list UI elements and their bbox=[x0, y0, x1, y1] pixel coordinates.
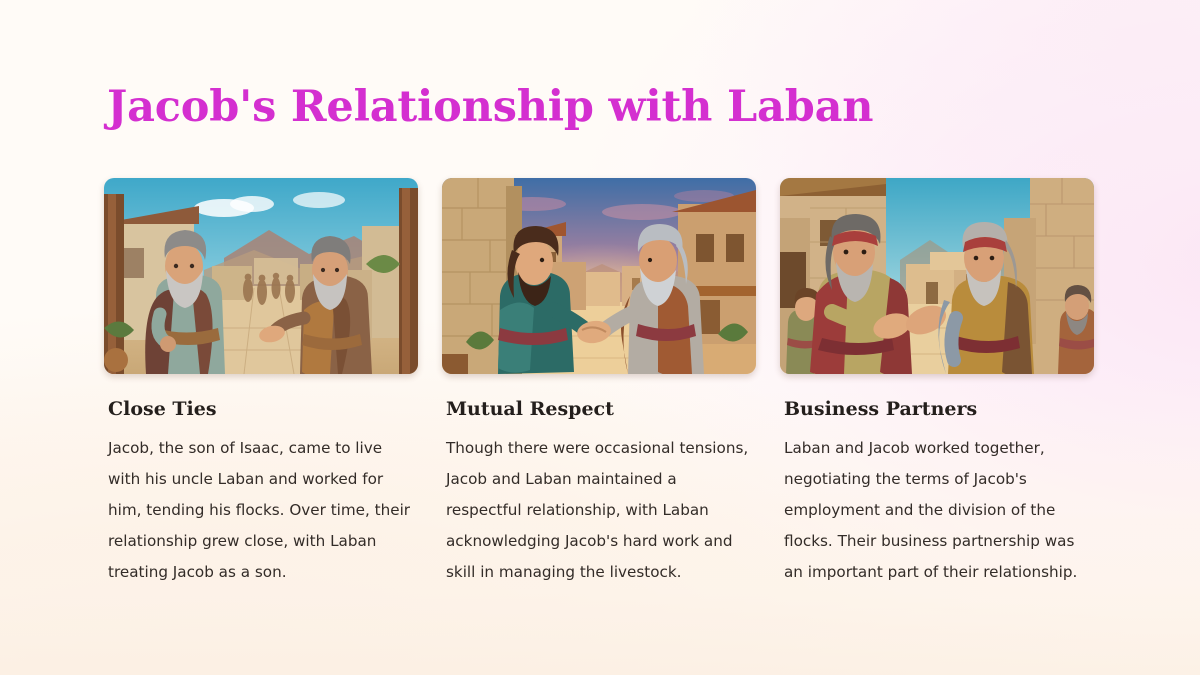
illustration-jacob-and-laban-handshake bbox=[442, 178, 756, 374]
street-scene-icon bbox=[104, 178, 418, 374]
card-heading: Mutual Respect bbox=[446, 398, 756, 421]
slide-root: Jacob's Relationship with Laban bbox=[0, 0, 1200, 675]
card-body-text: Though there were occasional tensions, J… bbox=[446, 433, 754, 588]
handshake-scene-icon bbox=[442, 178, 756, 374]
page-title: Jacob's Relationship with Laban bbox=[107, 84, 873, 131]
illustration-jacob-and-laban-meeting bbox=[104, 178, 418, 374]
card-heading: Business Partners bbox=[784, 398, 1094, 421]
card-business-partners: Business Partners Laban and Jacob worked… bbox=[780, 178, 1094, 588]
card-list: Close Ties Jacob, the son of Isaac, came… bbox=[104, 178, 1094, 588]
card-close-ties: Close Ties Jacob, the son of Isaac, came… bbox=[104, 178, 418, 588]
card-heading: Close Ties bbox=[108, 398, 418, 421]
negotiation-scene-icon bbox=[780, 178, 1094, 374]
card-body-text: Jacob, the son of Isaac, came to live wi… bbox=[108, 433, 416, 588]
card-mutual-respect: Mutual Respect Though there were occasio… bbox=[442, 178, 756, 588]
illustration-jacob-and-laban-negotiating bbox=[780, 178, 1094, 374]
card-body-text: Laban and Jacob worked together, negotia… bbox=[784, 433, 1092, 588]
